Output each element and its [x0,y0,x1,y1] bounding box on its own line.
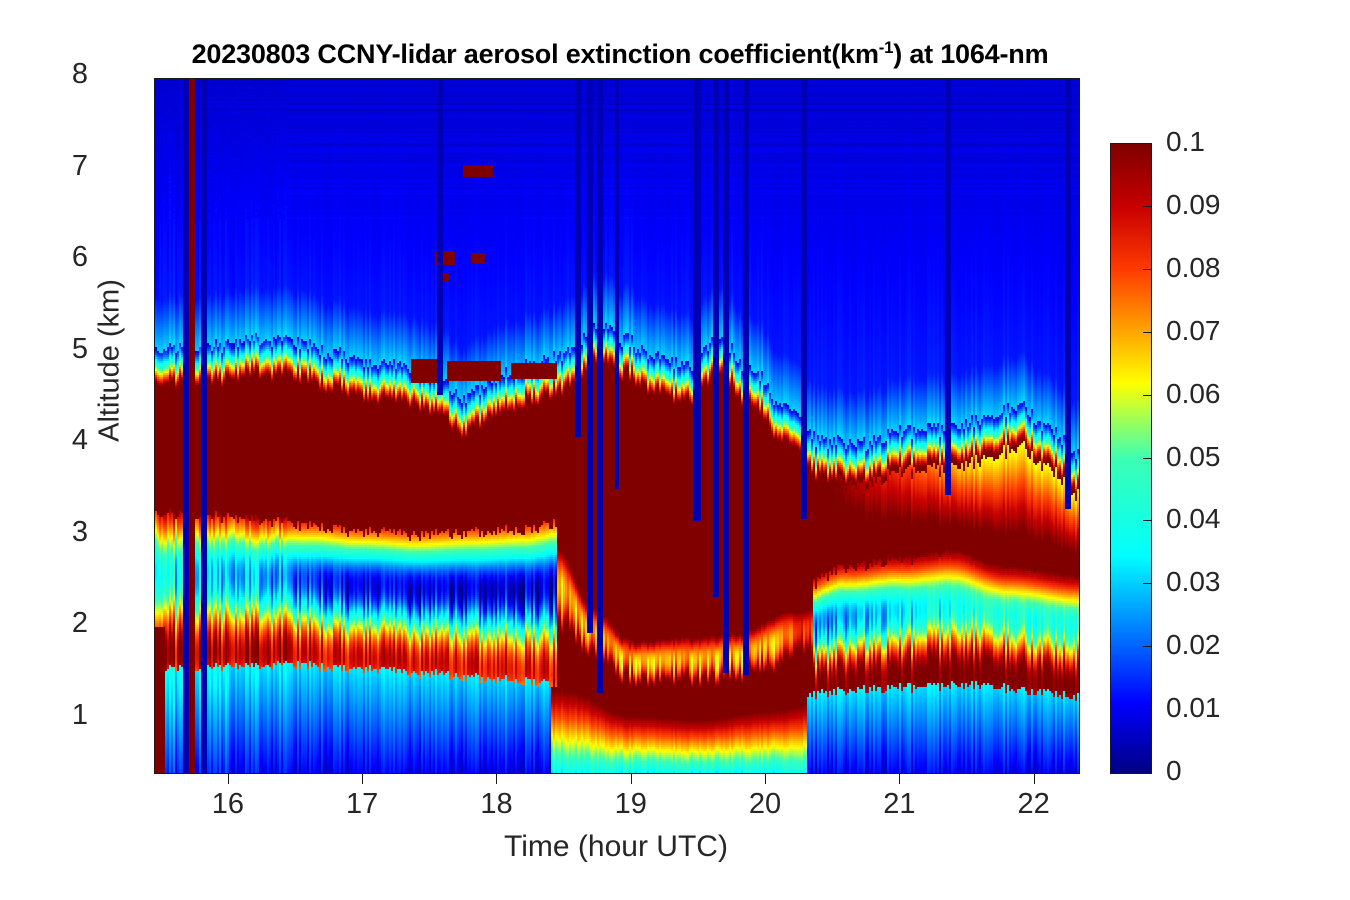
colorbar-tick-label: 0.03 [1166,568,1221,596]
colorbar-tick-label: 0.01 [1166,694,1221,722]
colorbar-tick-label: 0.1 [1166,128,1205,156]
x-tick-label: 17 [322,788,402,821]
colorbar-tick-mark [1143,332,1151,333]
x-tick-label: 22 [994,788,1074,821]
title-superscript: -1 [879,38,893,57]
heatmap-canvas[interactable] [155,79,1079,773]
page-title: 20230803 CCNY-lidar aerosol extinction c… [0,38,1240,70]
colorbar-tick-mark [1143,646,1151,647]
x-tick-mark [631,773,632,784]
x-tick-mark [362,773,363,784]
x-tick-mark [228,773,229,784]
y-tick-label: 3 [72,518,88,547]
colorbar-tick-mark [1143,583,1151,584]
y-tick-label: 5 [72,335,88,364]
y-tick-label: 7 [72,152,88,181]
colorbar-tick-label: 0.09 [1166,191,1221,219]
y-tick-label: 8 [72,60,88,89]
x-tick-mark [496,773,497,784]
x-tick-mark [899,773,900,784]
y-tick-label: 4 [72,426,88,455]
x-tick-label: 18 [456,788,536,821]
y-tick-label: 2 [72,609,88,638]
colorbar-tick-mark [1143,520,1151,521]
y-tick-label: 6 [72,243,88,272]
x-tick-label: 16 [188,788,268,821]
colorbar-tick-label: 0.05 [1166,443,1221,471]
x-tick-label: 20 [725,788,805,821]
y-tick-label: 1 [72,701,88,730]
lidar-extinction-figure: 20230803 CCNY-lidar aerosol extinction c… [0,0,1350,900]
colorbar-tick-label: 0 [1166,757,1182,785]
x-tick-label: 21 [859,788,939,821]
colorbar-tick-mark [1143,269,1151,270]
y-axis-label: Altitude (km) [94,211,127,511]
colorbar[interactable]: 00.010.020.030.040.050.060.070.080.090.1 [1110,143,1152,774]
colorbar-tick-label: 0.07 [1166,317,1221,345]
x-axis-label: Time (hour UTC) [154,830,1078,864]
colorbar-tick-mark [1143,709,1151,710]
colorbar-tick-label: 0.02 [1166,631,1221,659]
colorbar-tick-mark [1143,458,1151,459]
heatmap-plot-area[interactable] [154,78,1080,774]
x-tick-mark [765,773,766,784]
colorbar-tick-mark [1143,395,1151,396]
colorbar-tick-label: 0.06 [1166,380,1221,408]
x-tick-mark [1034,773,1035,784]
colorbar-tick-label: 0.08 [1166,254,1221,282]
colorbar-tick-label: 0.04 [1166,505,1221,533]
title-prefix: 20230803 CCNY-lidar aerosol extinction c… [192,39,879,69]
title-suffix: ) at 1064-nm [893,39,1048,69]
x-tick-label: 19 [591,788,671,821]
colorbar-tick-mark [1143,206,1151,207]
